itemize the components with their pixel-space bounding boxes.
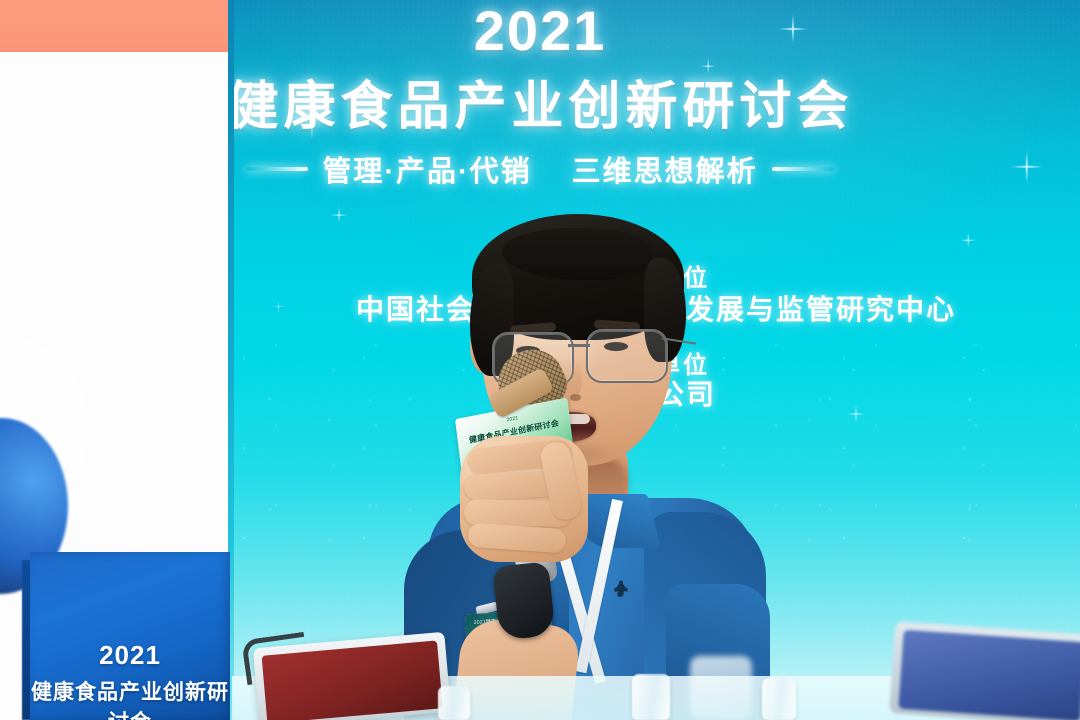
backdrop-subtitle-left: 管理·产品·代销 xyxy=(322,148,531,190)
subtitle-rule-right xyxy=(772,167,834,171)
lens-right xyxy=(586,329,668,383)
water-bottle xyxy=(438,686,470,720)
conference-photo: 2021 健康食品产业创新研讨会 管理·产品·代销 三维思想解析 主办单位 中国… xyxy=(0,0,1080,720)
water-bottle xyxy=(762,678,796,720)
sign-year: 2021 xyxy=(30,640,230,671)
speaker-person: 2021健康食品产业创新研讨会 嘉宾证 GUEST 2021 健康食品产业创新研… xyxy=(398,212,758,720)
polo-player-logo-icon xyxy=(610,580,632,606)
laptop-right xyxy=(889,621,1080,720)
nostril-right xyxy=(570,394,581,401)
subtitle-rule-left xyxy=(246,167,308,171)
glasses-bridge xyxy=(568,344,590,347)
water-bottle xyxy=(632,674,670,720)
laptop-screen xyxy=(262,640,443,720)
sign-title: 健康食品产业创新研讨会 xyxy=(30,676,230,720)
laptop-screen xyxy=(898,630,1080,720)
water-glass xyxy=(690,656,752,720)
laptop-left xyxy=(253,632,451,720)
backdrop-subtitle-right: 三维思想解析 xyxy=(572,148,758,190)
coral-banner xyxy=(0,0,228,52)
